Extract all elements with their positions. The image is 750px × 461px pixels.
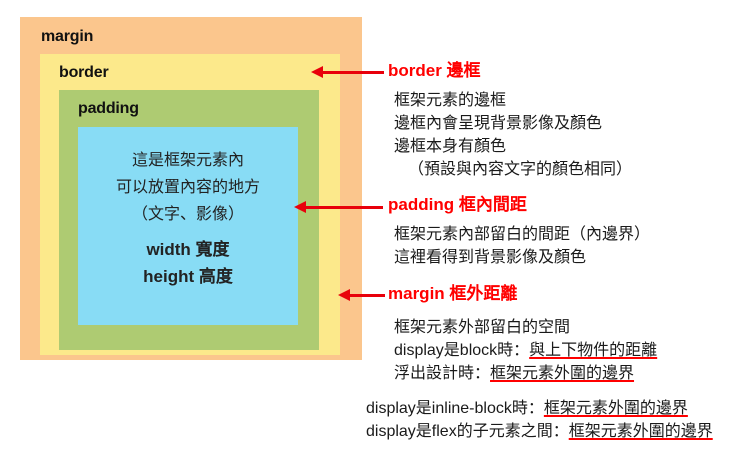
annotation-padding-title: padding 框內間距: [388, 194, 650, 215]
annotation-border-line-4: （預設與內容文字的顏色相同）: [394, 158, 632, 181]
content-width-label: width 寬度: [78, 236, 298, 263]
arrow-to-padding-layer-icon: [305, 206, 383, 209]
annotation-margin-line-2: display是block時：與上下物件的距離: [394, 339, 657, 362]
annotation-padding: padding 框內間距 框架元素內部留白的間距（內邊界） 這裡看得到背景影像及…: [388, 194, 650, 269]
content-height-label: height 高度: [78, 263, 298, 290]
annotation-border-line-1: 框架元素的邊框: [394, 89, 632, 112]
annotation-margin-line-5-underlined: 框架元素外圍的邊界: [569, 423, 713, 440]
annotation-border-title: border 邊框: [388, 60, 632, 81]
content-layer: 這是框架元素內 可以放置內容的地方 （文字、影像） width 寬度 heigh…: [78, 127, 298, 325]
annotation-border: border 邊框 框架元素的邊框 邊框內會呈現背景影像及顏色 邊框本身有顏色 …: [388, 60, 632, 181]
annotation-margin-line-4-underlined: 框架元素外圍的邊界: [544, 400, 688, 417]
arrow-to-border-layer-icon: [322, 71, 384, 74]
annotation-padding-body: 框架元素內部留白的間距（內邊界） 這裡看得到背景影像及顏色: [388, 223, 650, 269]
border-layer-label: border: [59, 65, 340, 81]
annotation-margin-line-5: display是flex的子元素之間：框架元素外圍的邊界: [366, 420, 713, 443]
padding-layer: padding 這是框架元素內 可以放置內容的地方 （文字、影像） width …: [59, 90, 319, 350]
arrow-to-margin-layer-icon: [349, 294, 385, 297]
padding-layer-label: padding: [78, 101, 319, 117]
annotation-margin-body: 框架元素外部留白的空間 display是block時：與上下物件的距離 浮出設計…: [388, 316, 657, 385]
content-text-line-2: 可以放置內容的地方: [78, 174, 298, 201]
annotation-margin-line-3-underlined: 框架元素外圍的邊界: [490, 365, 634, 382]
annotation-margin-line-3: 浮出設計時：框架元素外圍的邊界: [394, 362, 657, 385]
annotation-border-line-2: 邊框內會呈現背景影像及顏色: [394, 112, 632, 135]
annotation-margin-line-4-prefix: display是inline-block時：: [366, 400, 544, 417]
content-spacer: [78, 228, 298, 236]
content-text-line-3: （文字、影像）: [78, 201, 298, 228]
annotation-padding-line-1: 框架元素內部留白的間距（內邊界）: [394, 223, 650, 246]
annotation-padding-line-2: 這裡看得到背景影像及顏色: [394, 246, 650, 269]
annotation-margin-extra: display是inline-block時：框架元素外圍的邊界 display是…: [366, 397, 713, 443]
annotation-margin-line-4: display是inline-block時：框架元素外圍的邊界: [366, 397, 713, 420]
annotation-margin-line-3-prefix: 浮出設計時：: [394, 365, 490, 382]
content-text-line-1: 這是框架元素內: [78, 147, 298, 174]
annotation-margin-line-5-prefix: display是flex的子元素之間：: [366, 423, 569, 440]
annotation-margin-line-2-prefix: display是block時：: [394, 342, 529, 359]
annotation-margin-title: margin 框外距離: [388, 283, 657, 304]
annotation-margin-line-2-underlined: 與上下物件的距離: [529, 342, 657, 359]
annotation-border-line-3: 邊框本身有顏色: [394, 135, 632, 158]
annotation-margin-line-1: 框架元素外部留白的空間: [394, 316, 657, 339]
annotation-border-body: 框架元素的邊框 邊框內會呈現背景影像及顏色 邊框本身有顏色 （預設與內容文字的顏…: [388, 89, 632, 181]
margin-layer-label: margin: [40, 29, 362, 45]
annotation-margin: margin 框外距離 框架元素外部留白的空間 display是block時：與…: [388, 283, 657, 385]
